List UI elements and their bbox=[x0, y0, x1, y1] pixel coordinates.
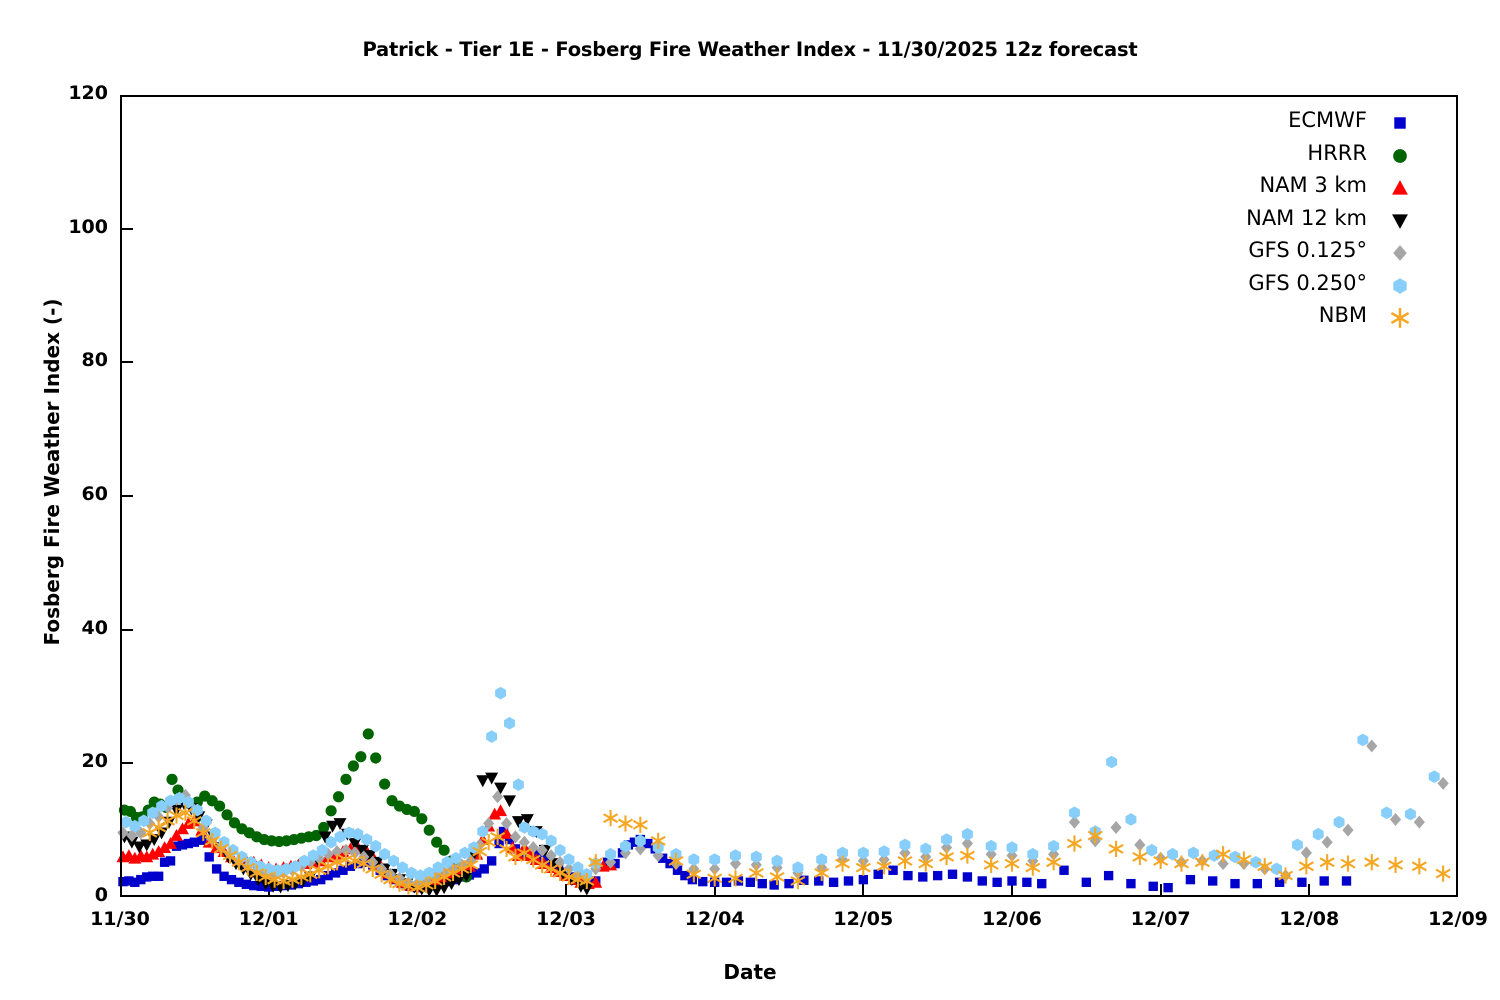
circle-marker bbox=[1389, 145, 1411, 167]
legend-label: GFS 0.250° bbox=[1248, 271, 1367, 295]
triangle-down-marker bbox=[1389, 210, 1411, 232]
legend-label: NAM 3 km bbox=[1259, 173, 1367, 197]
x-tick-label: 12/08 bbox=[1229, 908, 1389, 930]
y-tick-label: 0 bbox=[18, 884, 108, 906]
y-tick-label: 60 bbox=[18, 483, 108, 505]
hexagon-marker bbox=[1389, 275, 1411, 297]
x-tick-label: 12/02 bbox=[337, 908, 497, 930]
legend-item-nam-12-km[interactable]: NAM 12 km bbox=[1150, 206, 1415, 239]
legend-label: HRRR bbox=[1307, 141, 1367, 165]
legend-label: NBM bbox=[1319, 303, 1367, 327]
x-tick-label: 12/06 bbox=[932, 908, 1092, 930]
x-tick-label: 12/03 bbox=[486, 908, 646, 930]
triangle-up-marker bbox=[1389, 177, 1411, 199]
chart-legend: ECMWFHRRRNAM 3 kmNAM 12 kmGFS 0.125°GFS … bbox=[1150, 108, 1415, 336]
x-tick-label: 12/01 bbox=[189, 908, 349, 930]
legend-item-hrrr[interactable]: HRRR bbox=[1150, 141, 1415, 174]
legend-item-ecmwf[interactable]: ECMWF bbox=[1150, 108, 1415, 141]
asterisk-marker bbox=[1389, 307, 1411, 329]
x-tick-label: 12/05 bbox=[783, 908, 943, 930]
legend-item-nbm[interactable]: NBM bbox=[1150, 303, 1415, 336]
y-tick-label: 100 bbox=[18, 216, 108, 238]
legend-item-nam-3-km[interactable]: NAM 3 km bbox=[1150, 173, 1415, 206]
x-tick-label: 12/07 bbox=[1081, 908, 1241, 930]
legend-label: NAM 12 km bbox=[1246, 206, 1367, 230]
legend-label: ECMWF bbox=[1288, 108, 1367, 132]
diamond-marker bbox=[1389, 242, 1411, 264]
y-tick-label: 120 bbox=[18, 82, 108, 104]
x-tick-label: 12/04 bbox=[635, 908, 795, 930]
legend-label: GFS 0.125° bbox=[1248, 238, 1367, 262]
chart-page: Patrick - Tier 1E - Fosberg Fire Weather… bbox=[0, 0, 1500, 1000]
legend-item-gfs-0-250[interactable]: GFS 0.250° bbox=[1150, 271, 1415, 304]
legend-item-gfs-0-125[interactable]: GFS 0.125° bbox=[1150, 238, 1415, 271]
y-tick-label: 40 bbox=[18, 617, 108, 639]
y-tick-label: 20 bbox=[18, 750, 108, 772]
y-tick-label: 80 bbox=[18, 349, 108, 371]
square-marker bbox=[1389, 112, 1411, 134]
x-tick-label: 12/09 bbox=[1378, 908, 1500, 930]
x-tick-label: 11/30 bbox=[40, 908, 200, 930]
x-axis-label: Date bbox=[0, 960, 1500, 984]
chart-title: Patrick - Tier 1E - Fosberg Fire Weather… bbox=[0, 38, 1500, 61]
